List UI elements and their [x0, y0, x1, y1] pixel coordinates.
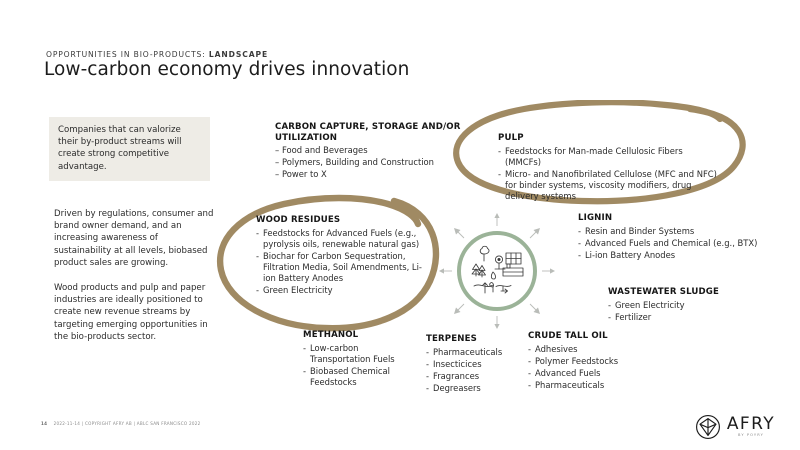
cluster-list-pulp: Feedstocks for Man-made Cellulosic Fiber…	[498, 146, 720, 202]
cluster-list-carbon-capture: Food and Beverages Polymers, Building an…	[275, 145, 483, 180]
cluster-list-terpenes: Pharmaceuticals Insecticices Fragrances …	[426, 347, 526, 394]
afry-mark-icon	[695, 414, 721, 440]
eyebrow-emphasis: LANDSCAPE	[209, 50, 268, 59]
list-item: Advanced Fuels	[528, 368, 648, 379]
list-item: Micro- and Nanofibrilated Cellulose (MFC…	[498, 169, 720, 202]
callout-box: Companies that can valorize their by-pro…	[49, 117, 210, 181]
cluster-carbon-capture: CARBON CAPTURE, STORAGE AND/OR UTILIZATI…	[275, 122, 483, 181]
list-item: Biochar for Carbon Sequestration, Filtra…	[256, 251, 432, 284]
afry-wordmark: AFRY BY POYRY	[727, 416, 775, 438]
cluster-methanol: METHANOL Low-carbon Transportation Fuels…	[303, 330, 421, 389]
list-item: Fertilizer	[608, 312, 778, 323]
slide: OPPORTUNITIES IN BIO-PRODUCTS: LANDSCAPE…	[0, 0, 800, 450]
cluster-lignin: LIGNIN Resin and Binder Systems Advanced…	[578, 213, 768, 262]
page-title: Low-carbon economy drives innovation	[44, 59, 409, 80]
list-item: Degreasers	[426, 383, 526, 394]
cluster-title-wastewater-sludge: WASTEWATER SLUDGE	[608, 287, 778, 298]
eyebrow-prefix: OPPORTUNITIES IN BIO-PRODUCTS:	[46, 50, 209, 59]
cluster-title-terpenes: TERPENES	[426, 334, 526, 345]
cluster-title-lignin: LIGNIN	[578, 213, 768, 224]
list-item: Green Electricity	[608, 300, 778, 311]
afry-subtext: BY POYRY	[727, 434, 775, 438]
cluster-title-crude-tall-oil: CRUDE TALL OIL	[528, 331, 648, 342]
cluster-title-carbon-capture: CARBON CAPTURE, STORAGE AND/OR UTILIZATI…	[275, 122, 483, 143]
list-item: Green Electricity	[256, 285, 432, 296]
sidebar-paragraph-2: Wood products and pulp and paper industr…	[54, 282, 216, 343]
list-item: Fragrances	[426, 371, 526, 382]
list-item: Feedstocks for Man-made Cellulosic Fiber…	[498, 146, 720, 168]
list-item: Food and Beverages	[275, 145, 483, 156]
list-item: Polymers, Building and Construction	[275, 157, 483, 168]
cluster-pulp: PULP Feedstocks for Man-made Cellulosic …	[498, 133, 720, 203]
list-item: Adhesives	[528, 344, 648, 355]
list-item: Insecticices	[426, 359, 526, 370]
list-item: Low-carbon Transportation Fuels	[303, 343, 421, 365]
afry-logo: AFRY BY POYRY	[695, 414, 775, 440]
list-item: Biobased Chemical Feedstocks	[303, 366, 421, 388]
forest-biorefinery-icon	[462, 236, 532, 306]
cluster-crude-tall-oil: CRUDE TALL OIL Adhesives Polymer Feedsto…	[528, 331, 648, 392]
cluster-title-methanol: METHANOL	[303, 330, 421, 341]
cluster-title-pulp: PULP	[498, 133, 720, 144]
list-item: Feedstocks for Advanced Fuels (e.g., pyr…	[256, 228, 432, 250]
list-item: Pharmaceuticals	[426, 347, 526, 358]
cluster-list-wood-residues: Feedstocks for Advanced Fuels (e.g., pyr…	[256, 228, 432, 296]
cluster-list-methanol: Low-carbon Transportation Fuels Biobased…	[303, 343, 421, 388]
cluster-list-wastewater-sludge: Green Electricity Fertilizer	[608, 300, 778, 323]
page-number: 14	[41, 421, 47, 426]
list-item: Pharmaceuticals	[528, 380, 648, 391]
footer-metadata: 14 2022-11-14 | COPYRIGHT AFRY AB | ABLC…	[41, 421, 201, 426]
list-item: Power to X	[275, 169, 483, 180]
list-item: Polymer Feedstocks	[528, 356, 648, 367]
list-item: Resin and Binder Systems	[578, 226, 768, 237]
cluster-wood-residues: WOOD RESIDUES Feedstocks for Advanced Fu…	[256, 215, 432, 297]
cluster-list-crude-tall-oil: Adhesives Polymer Feedstocks Advanced Fu…	[528, 344, 648, 391]
center-emblem	[438, 212, 556, 330]
cluster-list-lignin: Resin and Binder Systems Advanced Fuels …	[578, 226, 768, 261]
afry-word: AFRY	[727, 416, 775, 433]
slide-eyebrow: OPPORTUNITIES IN BIO-PRODUCTS: LANDSCAPE	[46, 50, 268, 59]
cluster-wastewater-sludge: WASTEWATER SLUDGE Green Electricity Fert…	[608, 287, 778, 324]
cluster-terpenes: TERPENES Pharmaceuticals Insecticices Fr…	[426, 334, 526, 395]
list-item: Advanced Fuels and Chemical (e.g., BTX)	[578, 238, 768, 249]
footer-meta-text: 2022-11-14 | COPYRIGHT AFRY AB | ABLC SA…	[54, 421, 201, 426]
list-item: Li-ion Battery Anodes	[578, 250, 768, 261]
cluster-title-wood-residues: WOOD RESIDUES	[256, 215, 432, 226]
sidebar-paragraph-1: Driven by regulations, consumer and bran…	[54, 208, 216, 269]
